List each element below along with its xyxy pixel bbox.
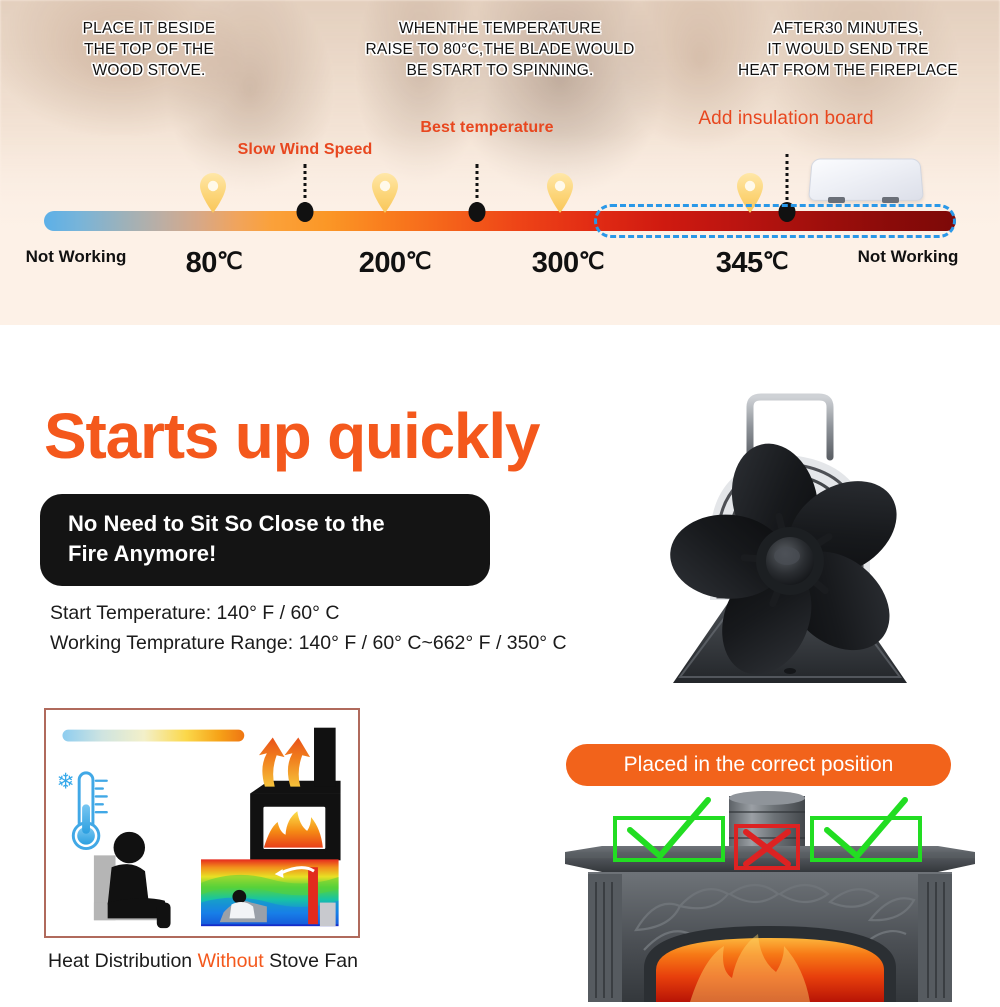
leader-line-slow-wind: [304, 164, 307, 206]
caption-place-beside: PLACE IT BESIDETHE TOP OF THEWOOD STOVE.: [14, 18, 284, 81]
annotation-best-temperature: Best temperature: [420, 119, 553, 137]
snowflake-icon: ❄: [57, 770, 75, 795]
insulation-foot-left: [828, 197, 845, 203]
stove-placement-photo: [540, 790, 1000, 1002]
marker-pin-200c: [370, 172, 400, 214]
caption-suffix: Stove Fan: [264, 950, 358, 972]
insulation-zone-highlight: [594, 204, 956, 238]
annotation-slow-wind-speed: Slow Wind Speed: [238, 141, 373, 159]
heat-distribution-caption: Heat Distribution Without Stove Fan: [48, 950, 358, 973]
heat-distribution-illustration: ❄: [44, 708, 360, 938]
insulation-plate: [808, 159, 924, 201]
leader-line-insulation: [786, 154, 789, 206]
tagline-line-2: Fire Anymore!: [68, 541, 216, 566]
temperature-scale: Slow Wind Speed Best temperature Add ins…: [0, 110, 1000, 310]
insulation-board-graphic: [806, 155, 926, 207]
insulation-foot-right: [882, 197, 899, 203]
caption-after-30-minutes: AFTER30 MINUTES,IT WOULD SEND TREHEAT FR…: [700, 18, 996, 81]
tagline-badge: No Need to Sit So Close to the Fire Anym…: [40, 494, 490, 586]
marker-pin-300c: [545, 172, 575, 214]
scale-label-345c: 345℃: [716, 247, 788, 280]
scale-label-300c: 300℃: [532, 247, 604, 280]
spec-working-range: Working Temprature Range: 140° F / 60° C…: [50, 628, 567, 658]
caption-prefix: Heat Distribution: [48, 950, 198, 972]
scale-label-not-working-left: Not Working: [26, 247, 127, 267]
caption-highlight: Without: [198, 950, 264, 972]
temperature-guide-section: PLACE IT BESIDETHE TOP OF THEWOOD STOVE.…: [0, 0, 1000, 325]
annotation-add-insulation-board: Add insulation board: [698, 108, 873, 130]
tagline-line-1: No Need to Sit So Close to the: [68, 511, 385, 536]
point-marker-slow-wind: [297, 202, 314, 222]
leader-line-best-temperature: [476, 164, 479, 206]
point-marker-best-temperature: [469, 202, 486, 222]
marker-pin-80c: [198, 172, 228, 214]
scale-label-80c: 80℃: [186, 247, 243, 280]
specifications: Start Temperature: 140° F / 60° C Workin…: [50, 598, 567, 658]
spec-start-temperature: Start Temperature: 140° F / 60° C: [50, 598, 567, 628]
caption-when-temperature: WHENTHE TEMPERATURERAISE TO 80°C,THE BLA…: [305, 18, 695, 81]
scale-label-200c: 200℃: [359, 247, 431, 280]
correct-position-badge: Placed in the correct position: [566, 744, 951, 786]
scale-label-not-working-right: Not Working: [858, 247, 959, 267]
page-title: Starts up quickly: [44, 404, 539, 468]
svg-text:❄: ❄: [57, 770, 75, 795]
stove-fan-product-image: [618, 385, 988, 715]
